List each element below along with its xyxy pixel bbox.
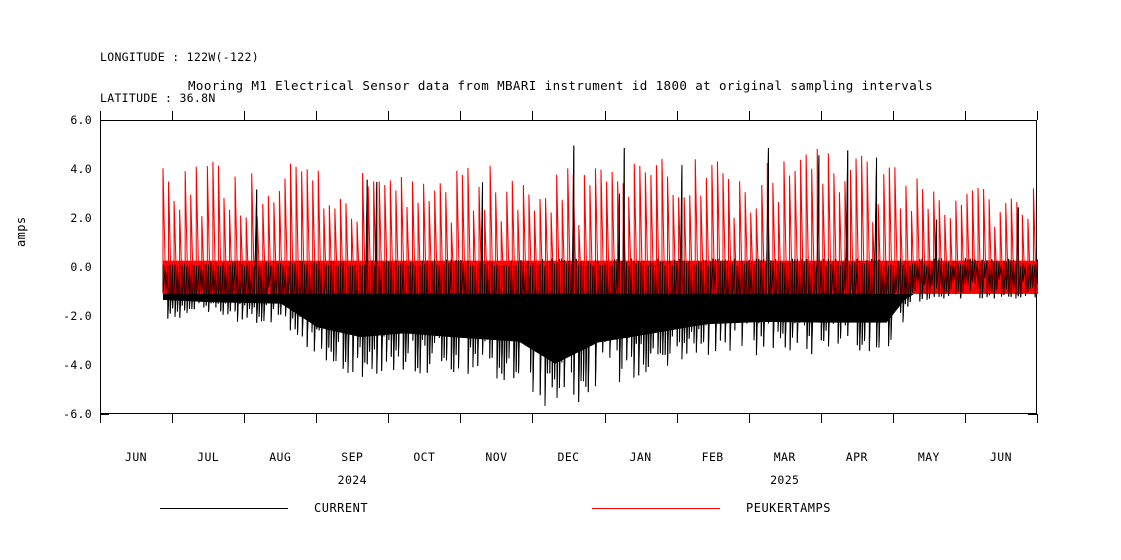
legend-label: PEUKERTAMPS bbox=[746, 501, 831, 515]
legend-line-swatch bbox=[160, 508, 288, 509]
y-axis-title: amps bbox=[14, 217, 28, 248]
x-tick bbox=[821, 414, 822, 423]
x-tick bbox=[532, 414, 533, 423]
x-tick-label: MAY bbox=[918, 450, 940, 464]
y-axis-tick-labels: 6.04.02.00.0-2.0-4.0-6.0 bbox=[0, 120, 92, 414]
legend-entry: PEUKERTAMPS bbox=[592, 498, 831, 518]
y-tick-label: 0.0 bbox=[70, 260, 92, 274]
x-tick bbox=[172, 414, 173, 423]
x-tick bbox=[677, 111, 678, 120]
y-tick-label: -6.0 bbox=[63, 407, 92, 421]
y-tick-label: 2.0 bbox=[70, 211, 92, 225]
x-tick bbox=[1037, 414, 1038, 423]
x-axis-year-labels: 20242025 bbox=[100, 473, 1037, 489]
longitude-text: LONGITUDE : 122W(-122) bbox=[100, 51, 259, 65]
x-tick bbox=[316, 111, 317, 120]
latitude-text: LATITUDE : 36.8N bbox=[100, 92, 259, 106]
x-tick bbox=[1037, 111, 1038, 120]
timeseries-plot bbox=[101, 121, 1038, 415]
x-tick-label: MAR bbox=[774, 450, 796, 464]
plot-area bbox=[100, 120, 1037, 414]
x-tick-label: DEC bbox=[558, 450, 580, 464]
x-axis-ticks-top bbox=[100, 111, 1037, 121]
x-tick bbox=[388, 414, 389, 423]
x-tick bbox=[605, 111, 606, 120]
x-tick-label: JUN bbox=[125, 450, 147, 464]
y-tick-label: -2.0 bbox=[63, 309, 92, 323]
x-tick-label: JAN bbox=[630, 450, 652, 464]
x-tick bbox=[677, 414, 678, 423]
year-label: 2024 bbox=[338, 473, 367, 487]
x-tick bbox=[532, 111, 533, 120]
legend-entry: CURRENT bbox=[160, 498, 368, 518]
x-tick-label: AUG bbox=[269, 450, 291, 464]
x-tick-label: APR bbox=[846, 450, 868, 464]
x-tick-label: SEP bbox=[341, 450, 363, 464]
x-tick bbox=[388, 111, 389, 120]
x-tick bbox=[965, 111, 966, 120]
y-tick-label: 4.0 bbox=[70, 162, 92, 176]
chart-title: Mooring M1 Electrical Sensor data from M… bbox=[0, 78, 1121, 93]
x-axis-tick-labels: JUNJULAUGSEPOCTNOVDECJANFEBMARAPRMAYJUN bbox=[100, 450, 1037, 466]
x-tick bbox=[821, 111, 822, 120]
legend-line-swatch bbox=[592, 508, 720, 509]
x-tick-label: JUN bbox=[990, 450, 1012, 464]
x-tick-label: FEB bbox=[702, 450, 724, 464]
x-tick bbox=[244, 414, 245, 423]
y-tick-label: -4.0 bbox=[63, 358, 92, 372]
x-tick bbox=[100, 111, 101, 120]
x-tick bbox=[965, 414, 966, 423]
year-label: 2025 bbox=[770, 473, 799, 487]
y-tick-label: 6.0 bbox=[70, 113, 92, 127]
x-tick-label: JUL bbox=[197, 450, 219, 464]
x-tick bbox=[749, 111, 750, 120]
x-tick bbox=[893, 111, 894, 120]
x-tick bbox=[749, 414, 750, 423]
x-axis-ticks-bottom bbox=[100, 414, 1037, 424]
chart-legend: CURRENTPEUKERTAMPS bbox=[100, 498, 1037, 520]
x-tick-label: NOV bbox=[485, 450, 507, 464]
legend-label: CURRENT bbox=[314, 501, 368, 515]
x-tick bbox=[605, 414, 606, 423]
x-tick bbox=[460, 111, 461, 120]
x-tick bbox=[172, 111, 173, 120]
x-tick bbox=[460, 414, 461, 423]
x-tick bbox=[316, 414, 317, 423]
x-tick-label: OCT bbox=[413, 450, 435, 464]
x-tick bbox=[244, 111, 245, 120]
x-tick bbox=[100, 414, 101, 423]
x-tick bbox=[893, 414, 894, 423]
